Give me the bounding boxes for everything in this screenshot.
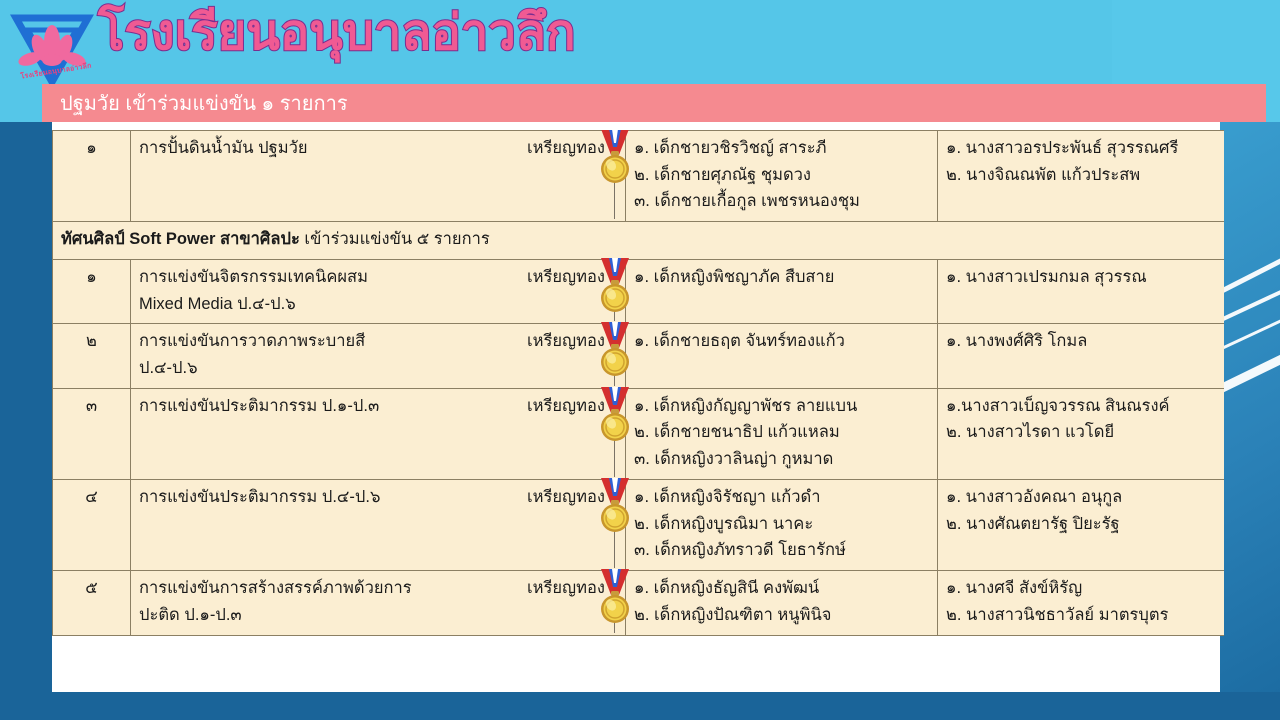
students-cell: ๑. เด็กหญิงกัญญาพัชร ลายแบน๒. เด็กชายชนา… xyxy=(626,388,938,479)
competition-item-line: Mixed Media ป.๔-ป.๖ xyxy=(139,291,617,318)
teacher-list: ๑. นางศจี สังข์หิรัญ๒. นางสาวนิชธาวัลย์ … xyxy=(946,575,1216,628)
students-cell: ๑. เด็กหญิงพิชญาภัค สืบสาย xyxy=(626,259,938,323)
teacher-list: ๑. นางพงศ์ศิริ โกมล xyxy=(946,328,1216,355)
competition-item-cell: การปั้นดินน้ำมัน ปฐมวัย เหรียญทอง xyxy=(131,131,626,222)
teacher-list: ๑. นางสาวเปรมกมล สุวรรณ xyxy=(946,264,1216,291)
results-table: ๑การปั้นดินน้ำมัน ปฐมวัย เหรียญทอง๑. เด็… xyxy=(52,130,1224,636)
table-row: ๑การแข่งขันจิตรกรรมเทคนิคผสมMixed Media … xyxy=(53,259,1225,323)
student-list-item: ๑. เด็กหญิงพิชญาภัค สืบสาย xyxy=(634,264,929,291)
student-list: ๑. เด็กหญิงพิชญาภัค สืบสาย xyxy=(634,264,929,291)
left-blue-margin xyxy=(0,122,52,720)
student-list-item: ๓. เด็กหญิงภัทราวดี โยธารักษ์ xyxy=(634,537,929,564)
table-section-header-row: ทัศนศิลป์ Soft Power สาขาศิลปะ เข้าร่วมแ… xyxy=(53,222,1225,260)
student-list-item: ๒. เด็กหญิงปัณฑิตา หนูพินิจ xyxy=(634,602,929,629)
student-list: ๑. เด็กหญิงธัญสินี คงพัฒน์๒. เด็กหญิงปัณ… xyxy=(634,575,929,628)
teacher-list-item: ๒. นางจิณณพัต แก้วประสพ xyxy=(946,162,1216,189)
table-row: ๑การปั้นดินน้ำมัน ปฐมวัย เหรียญทอง๑. เด็… xyxy=(53,131,1225,222)
teacher-list-item: ๒. นางสาวนิชธาวัลย์ มาตรบุตร xyxy=(946,602,1216,629)
table-row: ๕การแข่งขันการสร้างสรรค์ภาพด้วยการปะติด … xyxy=(53,571,1225,635)
student-list-item: ๑. เด็กหญิงธัญสินี คงพัฒน์ xyxy=(634,575,929,602)
student-list: ๑. เด็กหญิงจิรัชญา แก้วดำ๒. เด็กหญิงบูรณ… xyxy=(634,484,929,564)
student-list: ๑. เด็กชายธฤต จันทร์ทองแก้ว xyxy=(634,328,929,355)
competition-item-cell: การแข่งขันจิตรกรรมเทคนิคผสมMixed Media ป… xyxy=(131,259,626,323)
bottom-blue-margin xyxy=(0,692,1280,720)
award-label: เหรียญทอง xyxy=(527,264,605,291)
teacher-list-item: ๒. นางสาวไรดา แวโดยี xyxy=(946,419,1216,446)
teachers-cell: ๑. นางสาวเปรมกมล สุวรรณ xyxy=(938,259,1225,323)
row-number-cell: ๔ xyxy=(53,479,131,570)
award-label: เหรียญทอง xyxy=(527,484,605,511)
section-header-title: ทัศนศิลป์ Soft Power สาขาศิลปะ xyxy=(61,230,300,248)
award-label: เหรียญทอง xyxy=(527,393,605,420)
table-row: ๔การแข่งขันประติมากรรม ป.๔-ป.๖ เหรียญทอง… xyxy=(53,479,1225,570)
students-cell: ๑. เด็กหญิงจิรัชญา แก้วดำ๒. เด็กหญิงบูรณ… xyxy=(626,479,938,570)
award-label: เหรียญทอง xyxy=(527,135,605,162)
competition-item-cell: การแข่งขันประติมากรรม ป.๑-ป.๓ เหรียญทอง xyxy=(131,388,626,479)
competition-item-line: ป.๔-ป.๖ xyxy=(139,355,617,382)
teacher-list: ๑.นางสาวเบ็ญจวรรณ สินณรงค์๒. นางสาวไรดา … xyxy=(946,393,1216,446)
table-row: ๓การแข่งขันประติมากรรม ป.๑-ป.๓ เหรียญทอง… xyxy=(53,388,1225,479)
teachers-cell: ๑. นางสาวอรประพันธ์ สุวรรณศรี๒. นางจิณณพ… xyxy=(938,131,1225,222)
students-cell: ๑. เด็กชายวชิรวิชญ์ สาระภี๒. เด็กชายศุภณ… xyxy=(626,131,938,222)
student-list-item: ๓. เด็กชายเกื้อกูล เพชรหนองชุม xyxy=(634,188,929,215)
student-list-item: ๒. เด็กชายศุภณัฐ ชุมดวง xyxy=(634,162,929,189)
slide-canvas: โรงเรียนอนุบาลอ่าวลึก โรงเรียนอนุบาลอ่าว… xyxy=(0,0,1280,720)
student-list: ๑. เด็กหญิงกัญญาพัชร ลายแบน๒. เด็กชายชนา… xyxy=(634,393,929,473)
students-cell: ๑. เด็กชายธฤต จันทร์ทองแก้ว xyxy=(626,324,938,388)
teacher-list-item: ๑. นางศจี สังข์หิรัญ xyxy=(946,575,1216,602)
teachers-cell: ๑. นางสาวอังคณา อนุกูล๒. นางศัณตยารัฐ ปิ… xyxy=(938,479,1225,570)
row-number-cell: ๑ xyxy=(53,259,131,323)
teacher-list-item: ๑. นางสาวอังคณา อนุกูล xyxy=(946,484,1216,511)
teacher-list-item: ๑. นางสาวอรประพันธ์ สุวรรณศรี xyxy=(946,135,1216,162)
results-table-body: ๑การปั้นดินน้ำมัน ปฐมวัย เหรียญทอง๑. เด็… xyxy=(53,131,1225,636)
table-row: ๒การแข่งขันการวาดภาพระบายสีป.๔-ป.๖ เหรีย… xyxy=(53,324,1225,388)
teacher-list-item: ๒. นางศัณตยารัฐ ปิยะรัฐ xyxy=(946,511,1216,538)
teachers-cell: ๑. นางศจี สังข์หิรัญ๒. นางสาวนิชธาวัลย์ … xyxy=(938,571,1225,635)
student-list-item: ๑. เด็กหญิงจิรัชญา แก้วดำ xyxy=(634,484,929,511)
row-number-cell: ๒ xyxy=(53,324,131,388)
page-title: โรงเรียนอนุบาลอ่าวลึก xyxy=(98,8,576,59)
award-label: เหรียญทอง xyxy=(527,575,605,602)
teacher-list-item: ๑.นางสาวเบ็ญจวรรณ สินณรงค์ xyxy=(946,393,1216,420)
student-list: ๑. เด็กชายวชิรวิชญ์ สาระภี๒. เด็กชายศุภณ… xyxy=(634,135,929,215)
student-list-item: ๒. เด็กหญิงบูรณิมา นาคะ xyxy=(634,511,929,538)
section-banner-text: ปฐมวัย เข้าร่วมแข่งขัน ๑ รายการ xyxy=(42,87,348,119)
teacher-list-item: ๑. นางสาวเปรมกมล สุวรรณ xyxy=(946,264,1216,291)
row-number-cell: ๓ xyxy=(53,388,131,479)
competition-item-cell: การแข่งขันประติมากรรม ป.๔-ป.๖ เหรียญทอง xyxy=(131,479,626,570)
student-list-item: ๑. เด็กชายธฤต จันทร์ทองแก้ว xyxy=(634,328,929,355)
students-cell: ๑. เด็กหญิงธัญสินี คงพัฒน์๒. เด็กหญิงปัณ… xyxy=(626,571,938,635)
student-list-item: ๓. เด็กหญิงวาลินญ่า กูหมาด xyxy=(634,446,929,473)
teacher-list: ๑. นางสาวอรประพันธ์ สุวรรณศรี๒. นางจิณณพ… xyxy=(946,135,1216,188)
student-list-item: ๒. เด็กชายชนาธิป แก้วแหลม xyxy=(634,419,929,446)
school-logo: โรงเรียนอนุบาลอ่าวลึก xyxy=(6,4,98,90)
competition-item-line: ปะติด ป.๑-ป.๓ xyxy=(139,602,617,629)
section-header-subtitle: เข้าร่วมแข่งขัน ๕ รายการ xyxy=(300,230,490,248)
student-list-item: ๑. เด็กชายวชิรวิชญ์ สาระภี xyxy=(634,135,929,162)
teacher-list: ๑. นางสาวอังคณา อนุกูล๒. นางศัณตยารัฐ ปิ… xyxy=(946,484,1216,537)
section-header-cell: ทัศนศิลป์ Soft Power สาขาศิลปะ เข้าร่วมแ… xyxy=(53,222,1225,260)
competition-item-cell: การแข่งขันการสร้างสรรค์ภาพด้วยการปะติด ป… xyxy=(131,571,626,635)
results-table-container[interactable]: ๑การปั้นดินน้ำมัน ปฐมวัย เหรียญทอง๑. เด็… xyxy=(52,130,1224,690)
award-label: เหรียญทอง xyxy=(527,328,605,355)
teachers-cell: ๑.นางสาวเบ็ญจวรรณ สินณรงค์๒. นางสาวไรดา … xyxy=(938,388,1225,479)
teacher-list-item: ๑. นางพงศ์ศิริ โกมล xyxy=(946,328,1216,355)
teachers-cell: ๑. นางพงศ์ศิริ โกมล xyxy=(938,324,1225,388)
section-banner: ปฐมวัย เข้าร่วมแข่งขัน ๑ รายการ xyxy=(42,84,1266,122)
competition-item-cell: การแข่งขันการวาดภาพระบายสีป.๔-ป.๖ เหรียญ… xyxy=(131,324,626,388)
row-number-cell: ๑ xyxy=(53,131,131,222)
student-list-item: ๑. เด็กหญิงกัญญาพัชร ลายแบน xyxy=(634,393,929,420)
row-number-cell: ๕ xyxy=(53,571,131,635)
